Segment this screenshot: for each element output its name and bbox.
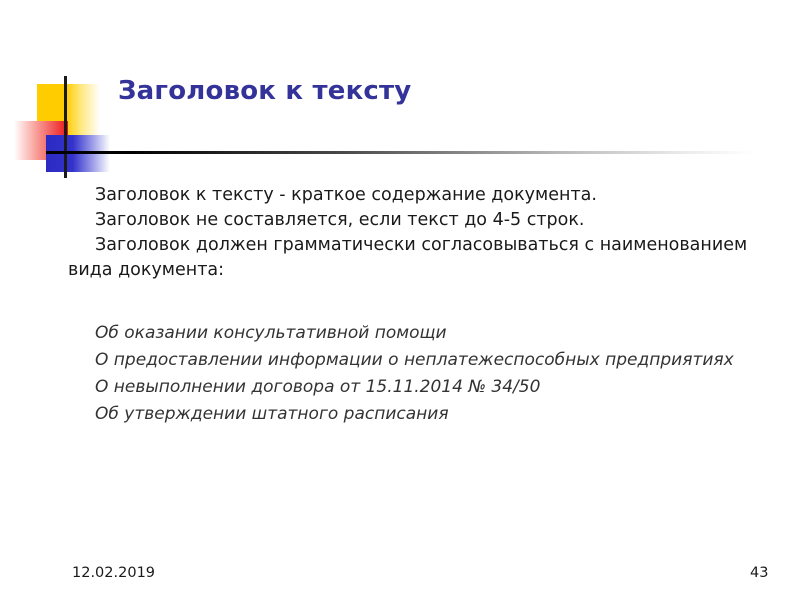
slide-canvas: Заголовок к тексту Заголовок к тексту - … [0,0,800,600]
vertical-rule-icon [64,76,67,178]
footer-date: 12.02.2019 [72,565,155,581]
body-text-block: Заголовок к тексту - краткое содержание … [68,183,758,283]
body-paragraph: Заголовок не составляется, если текст до… [68,208,758,233]
example-headings-list: Об оказании консультативной помощи О пре… [68,320,758,428]
body-paragraph: Заголовок к тексту - краткое содержание … [68,183,758,208]
body-paragraph: Заголовок должен грамматически согласовы… [68,233,758,283]
list-item: Об утверждении штатного расписания [68,401,758,428]
footer-page-number: 43 [750,565,768,581]
horizontal-divider-rule [46,151,755,154]
list-item: О предоставлении информации о неплатежес… [68,347,758,374]
list-item: О невыполнении договора от 15.11.2014 № … [68,374,758,401]
page-title: Заголовок к тексту [118,76,411,106]
list-item: Об оказании консультативной помощи [68,320,758,347]
